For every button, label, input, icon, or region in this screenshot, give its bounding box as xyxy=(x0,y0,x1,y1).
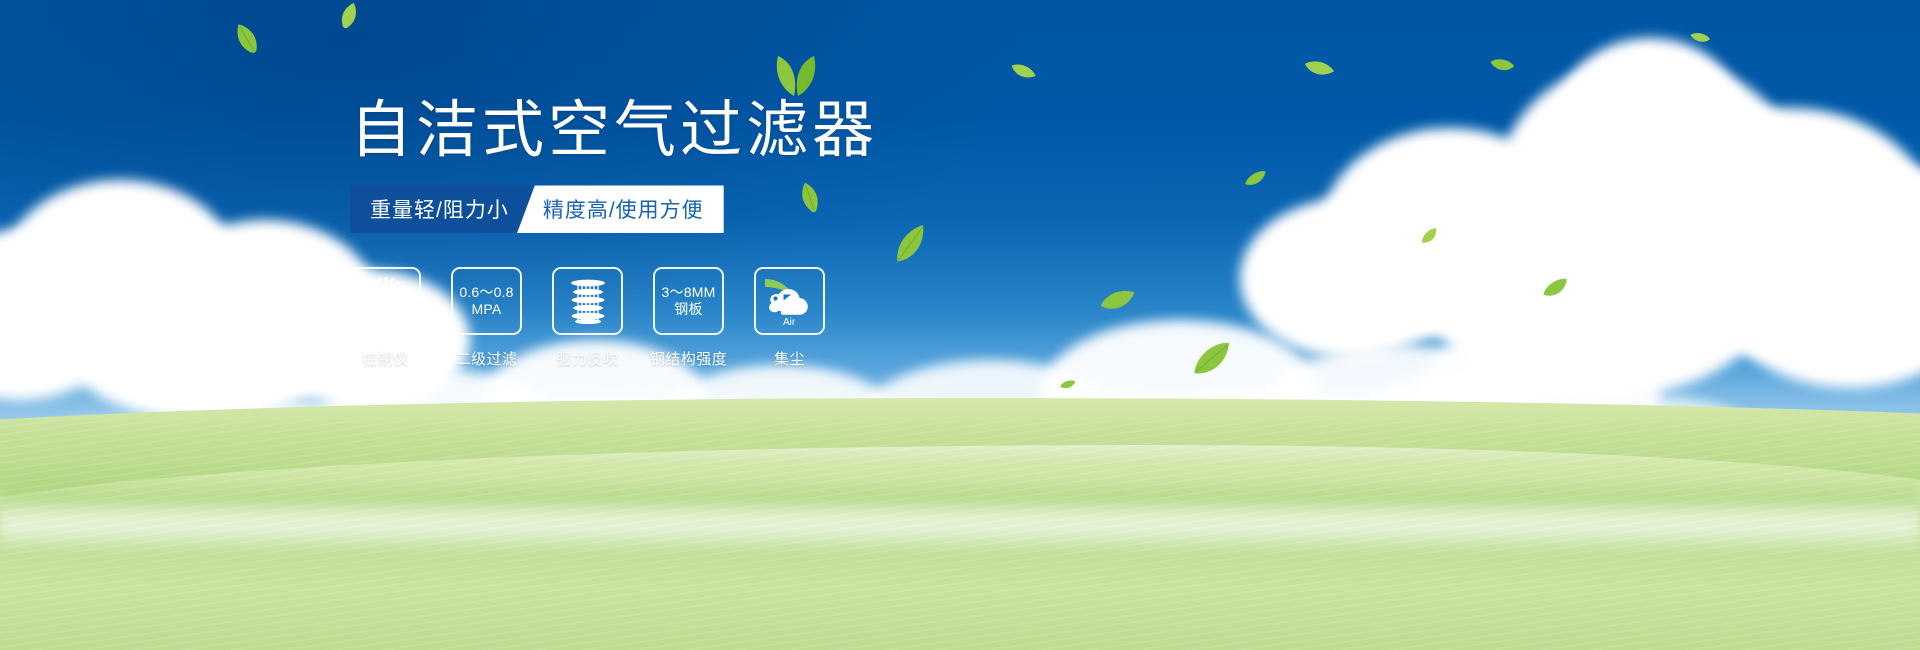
dial-label-right: OFF xyxy=(396,319,410,326)
air-label: Air xyxy=(783,317,796,327)
feature-list: NO OFF 控制仪 0.6～0.8 MPA 二级过滤 xyxy=(350,267,1110,369)
feature-box: 0.6～0.8 MPA xyxy=(451,267,522,335)
feature-item-dust: Air 集尘 xyxy=(754,267,825,369)
tagline-bar: 重量轻/阻力小 精度高/使用方便 xyxy=(350,185,673,233)
feature-caption: 集尘 xyxy=(754,348,825,369)
feature-box xyxy=(552,267,623,335)
feature-box: NO OFF xyxy=(350,267,421,335)
feature-item-backblow: 强力反吹 xyxy=(552,267,623,369)
feature-caption: 控制仪 xyxy=(350,348,421,369)
feature-box: Air xyxy=(754,267,825,335)
banner-content: 自洁式空气过滤器 重量轻/阻力小 精度高/使用方便 xyxy=(350,96,1110,369)
feature-item-controller: NO OFF 控制仪 xyxy=(350,267,421,369)
dial-gauge-icon: NO OFF xyxy=(358,274,414,328)
grass-texture xyxy=(0,420,1920,650)
feature-caption: 强力反吹 xyxy=(552,348,623,369)
feature-item-steel: 3～8MM 钢板 钢结构强度 xyxy=(653,267,724,369)
tagline-left: 重量轻/阻力小 xyxy=(350,185,531,233)
hero-banner: 自洁式空气过滤器 重量轻/阻力小 精度高/使用方便 xyxy=(0,0,1920,650)
leaf-sprout-icon xyxy=(770,52,822,101)
tagline-right: 精度高/使用方便 xyxy=(517,185,724,233)
page-title-wrap: 自洁式空气过滤器 xyxy=(350,96,878,165)
feature-caption: 钢结构强度 xyxy=(639,348,738,369)
dial-label-left: NO xyxy=(364,299,375,306)
steel-thickness-text: 3～8MM xyxy=(662,284,716,301)
stacked-discs-icon xyxy=(562,276,614,326)
steel-plate-text: 钢板 xyxy=(674,301,702,318)
air-cloud-icon: Air xyxy=(761,275,819,327)
feature-item-pressure: 0.6～0.8 MPA 二级过滤 xyxy=(451,267,522,369)
feature-box: 3～8MM 钢板 xyxy=(653,267,724,335)
feature-caption: 二级过滤 xyxy=(451,348,522,369)
page-title: 自洁式空气过滤器 xyxy=(350,96,878,165)
pressure-range-text: 0.6～0.8 xyxy=(459,284,513,301)
pressure-unit-text: MPA xyxy=(472,301,502,318)
